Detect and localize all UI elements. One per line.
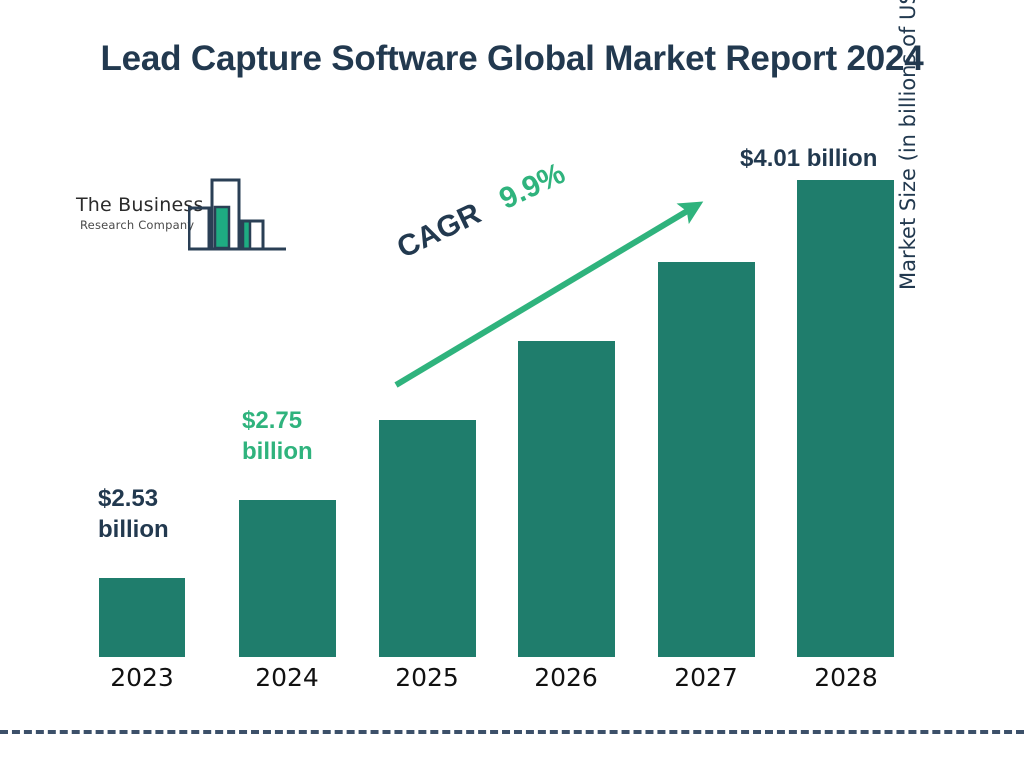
bar-chart-plot: 2023 2024 2025 2026 2027 2028 $2.53 bill…: [0, 0, 1024, 768]
footer-divider: [0, 730, 1024, 734]
growth-arrow: [0, 0, 1024, 768]
chart-page: Lead Capture Software Global Market Repo…: [0, 0, 1024, 768]
y-axis-label: Market Size (in billions of USD): [896, 0, 920, 290]
